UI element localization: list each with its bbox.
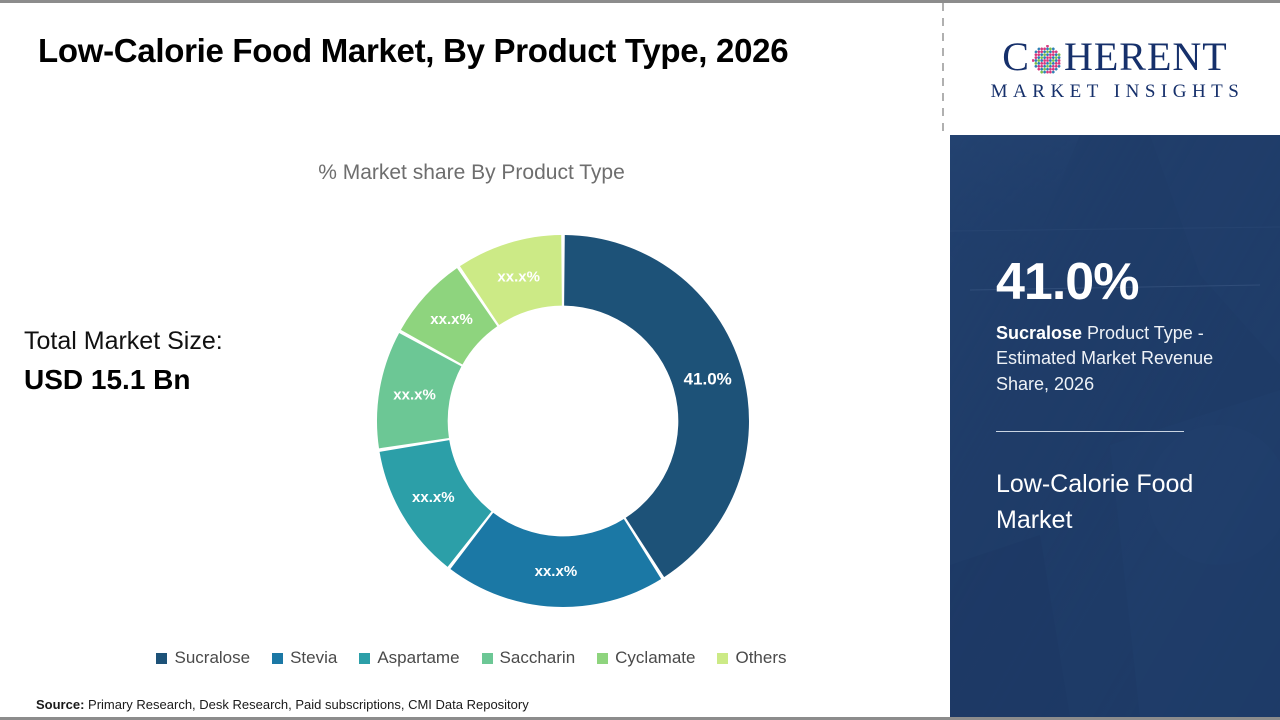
- total-market-size-label: Total Market Size:: [24, 325, 324, 359]
- legend-item-aspartame[interactable]: Aspartame: [359, 648, 459, 668]
- chart-subtitle: % Market share By Product Type: [0, 161, 943, 185]
- legend-swatch-icon: [717, 653, 728, 664]
- legend-swatch-icon: [359, 653, 370, 664]
- donut-chart-svg: 41.0%xx.x%xx.x%xx.x%xx.x%xx.x%: [373, 231, 753, 611]
- source-label: Source:: [36, 697, 84, 712]
- source-note: Source: Primary Research, Desk Research,…: [36, 697, 529, 712]
- donut-chart: 41.0%xx.x%xx.x%xx.x%xx.x%xx.x%: [373, 231, 753, 611]
- legend-item-stevia[interactable]: Stevia: [272, 648, 337, 668]
- donut-slice-label-cyclamate: xx.x%: [430, 311, 473, 328]
- donut-slice-label-sucralose: 41.0%: [684, 369, 732, 388]
- legend-swatch-icon: [272, 653, 283, 664]
- brand-tagline: MARKET INSIGHTS: [986, 82, 1245, 101]
- legend-label: Others: [735, 648, 786, 668]
- brand-letters-herent: HERENT: [1064, 37, 1228, 77]
- legend-label: Stevia: [290, 648, 337, 668]
- brand-wordmark: C HERENT: [1002, 37, 1227, 77]
- vertical-dashed-divider: [942, 3, 944, 135]
- total-market-size-value: USD 15.1 Bn: [24, 361, 324, 399]
- infographic-page: Low-Calorie Food Market, By Product Type…: [0, 0, 1280, 720]
- donut-slice-label-aspartame: xx.x%: [412, 489, 455, 506]
- page-title: Low-Calorie Food Market, By Product Type…: [38, 31, 918, 71]
- legend-item-sucralose[interactable]: Sucralose: [156, 648, 250, 668]
- highlight-stat-panel: 41.0% Sucralose Product Type - Estimated…: [950, 135, 1280, 717]
- panel-divider-rule: [996, 431, 1184, 432]
- donut-slice-label-others: xx.x%: [497, 269, 540, 286]
- source-text: Primary Research, Desk Research, Paid su…: [84, 697, 528, 712]
- stat-description: Sucralose Product Type - Estimated Marke…: [996, 321, 1248, 398]
- donut-slice-label-saccharin: xx.x%: [393, 387, 436, 404]
- legend-label: Aspartame: [377, 648, 459, 668]
- legend-item-saccharin[interactable]: Saccharin: [482, 648, 576, 668]
- stat-percentage: 41.0%: [996, 255, 1248, 310]
- stat-highlight-term: Sucralose: [996, 323, 1082, 343]
- legend-label: Saccharin: [500, 648, 576, 668]
- legend-label: Sucralose: [174, 648, 250, 668]
- total-market-size-block: Total Market Size: USD 15.1 Bn: [24, 325, 324, 399]
- legend-swatch-icon: [482, 653, 493, 664]
- brand-letter-c: C: [1002, 37, 1030, 77]
- legend-swatch-icon: [597, 653, 608, 664]
- donut-slice-stevia[interactable]: [450, 513, 661, 607]
- globe-icon: [1031, 43, 1063, 75]
- panel-market-name: Low-Calorie Food Market: [996, 466, 1248, 539]
- chart-legend: SucraloseSteviaAspartameSaccharinCyclama…: [0, 648, 943, 668]
- legend-label: Cyclamate: [615, 648, 695, 668]
- donut-slice-label-stevia: xx.x%: [535, 563, 578, 580]
- chart-pane: Low-Calorie Food Market, By Product Type…: [0, 3, 943, 717]
- legend-item-cyclamate[interactable]: Cyclamate: [597, 648, 695, 668]
- brand-logo: C HERENT MARKET INSIGHTS: [950, 3, 1280, 135]
- donut-slice-sucralose[interactable]: [564, 235, 749, 577]
- stat-panel-content: 41.0% Sucralose Product Type - Estimated…: [996, 255, 1248, 539]
- legend-item-others[interactable]: Others: [717, 648, 786, 668]
- legend-swatch-icon: [156, 653, 167, 664]
